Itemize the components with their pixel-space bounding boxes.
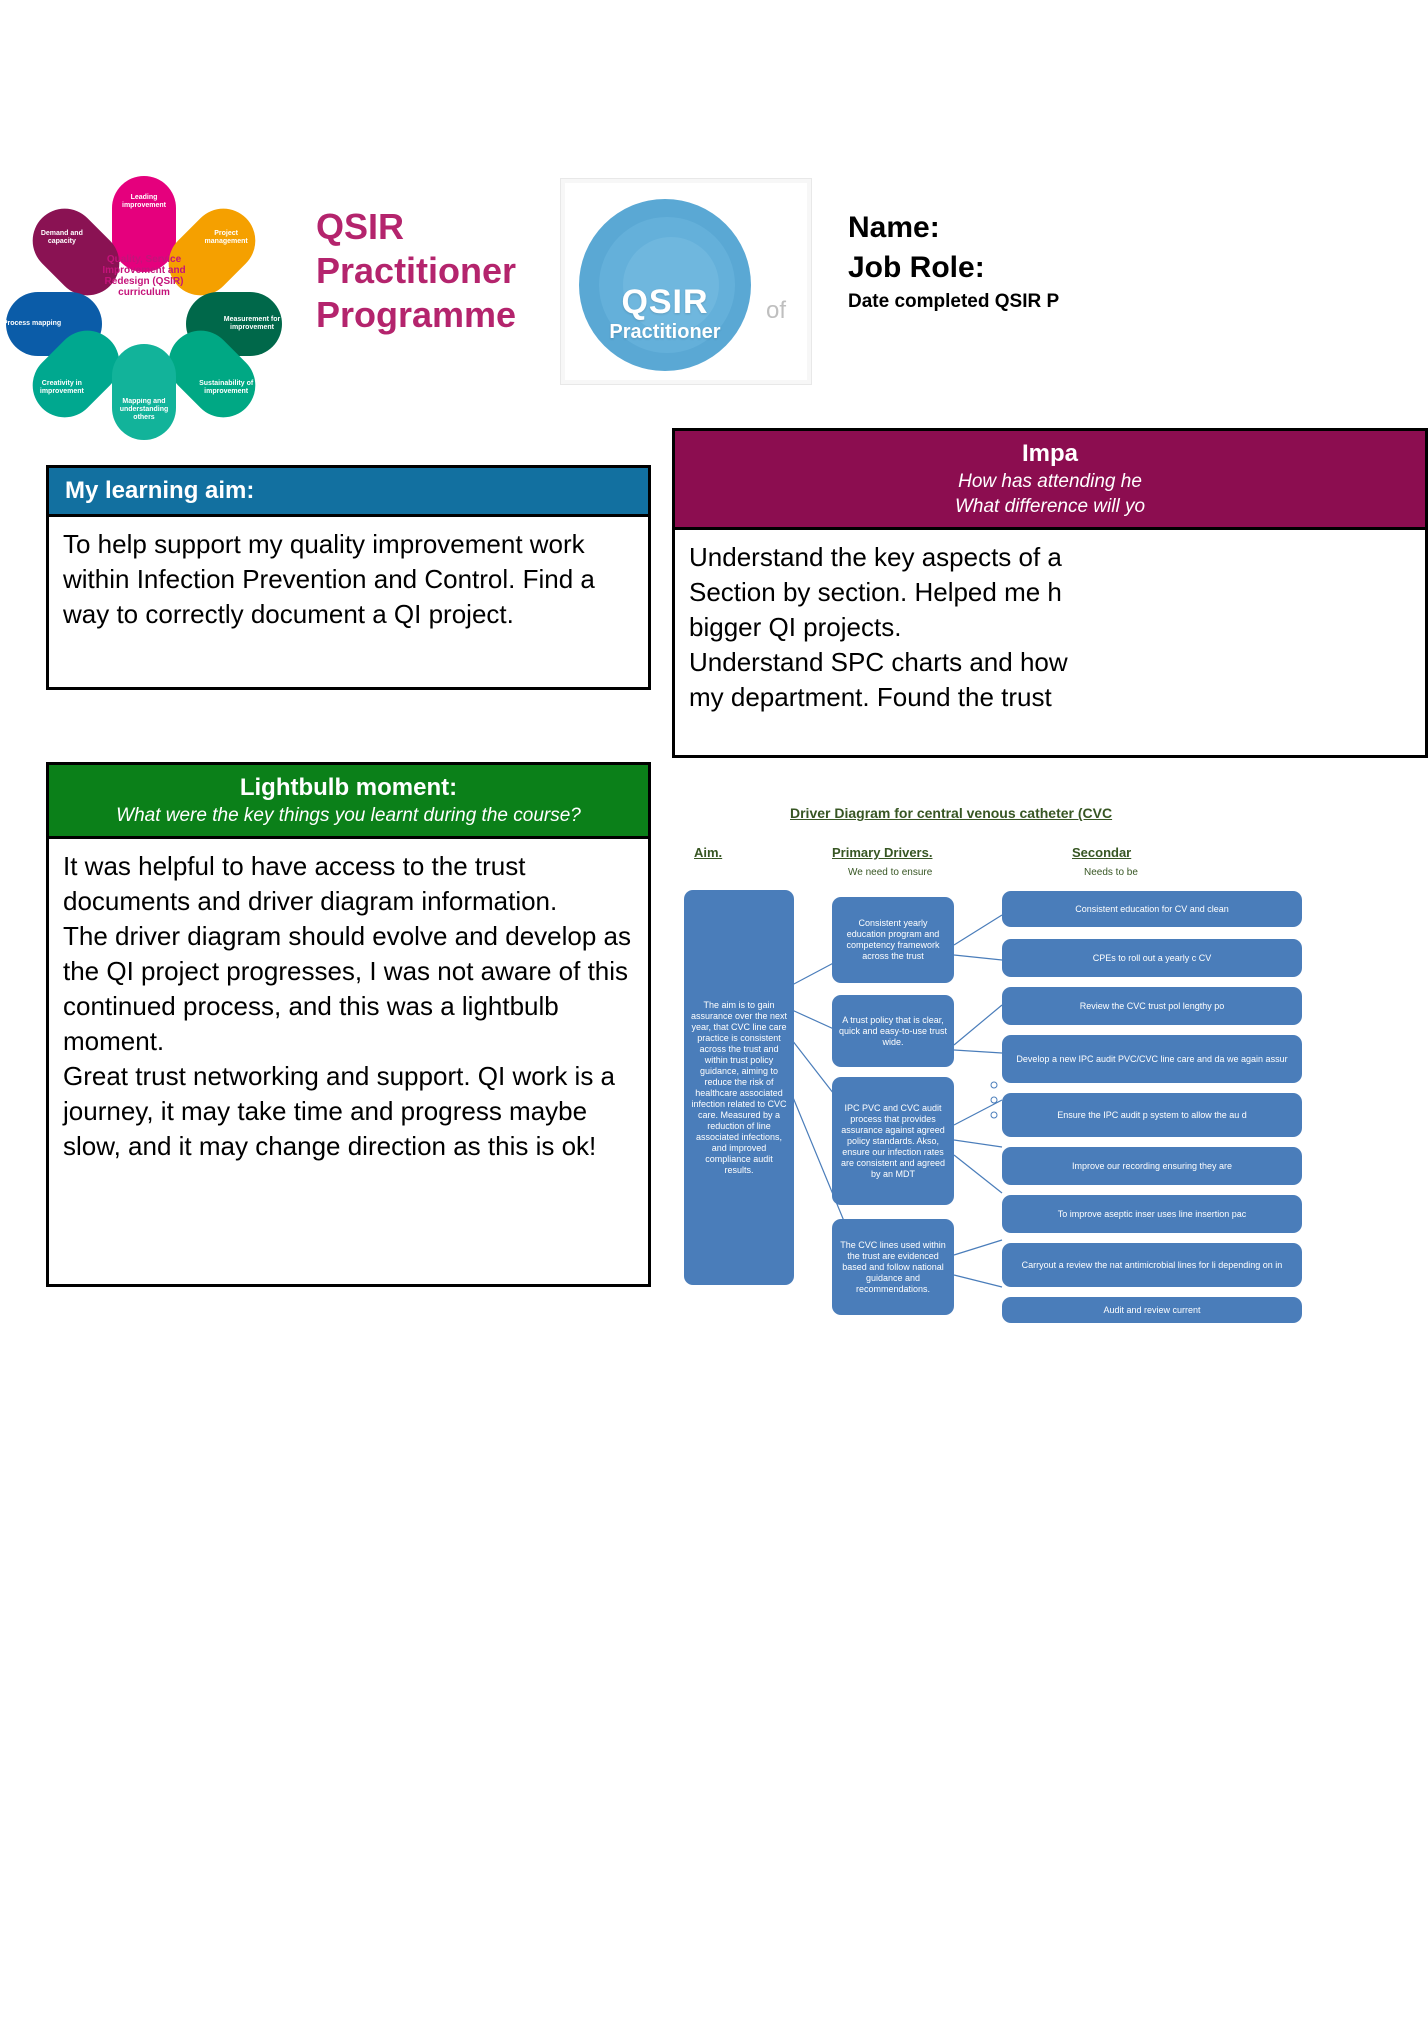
impact-body-line: Understand the key aspects of a: [689, 540, 1411, 575]
flower-petal-label: Measurement for improvement: [220, 316, 284, 332]
flower-petal-label: Creativity in improvement: [30, 380, 94, 396]
driver-diagram-col-primary: Primary Drivers.: [832, 845, 932, 860]
driver-diagram-sub-secondary: Needs to be: [1084, 867, 1138, 878]
driver-diagram: Driver Diagram for central venous cathet…: [672, 795, 1428, 1315]
driver-diagram-secondary-node: Audit and review current: [1002, 1297, 1302, 1323]
driver-diagram-secondary-node: Carryout a review the nat antimicrobial …: [1002, 1243, 1302, 1287]
flower-petal-label: Mapping and understanding others: [112, 398, 176, 422]
driver-diagram-title: Driver Diagram for central venous cathet…: [790, 805, 1428, 821]
learning-aim-box: My learning aim: To help support my qual…: [46, 465, 651, 690]
learning-aim-heading: My learning aim:: [65, 476, 638, 506]
impact-header: Impa How has attending he What differenc…: [675, 431, 1425, 530]
impact-heading: Impa: [685, 439, 1415, 469]
impact-subheading-2: What difference will yo: [685, 494, 1415, 519]
driver-diagram-primary-node: IPC PVC and CVC audit process that provi…: [832, 1077, 954, 1205]
qsir-practitioner-badge-frame: QSIR Practitioner of: [560, 178, 812, 385]
participant-details: Name: Job Role: Date completed QSIR P: [848, 208, 1428, 316]
flower-petal-label: Demand and capacity: [30, 230, 94, 246]
impact-box: Impa How has attending he What differenc…: [672, 428, 1428, 758]
impact-body-line: my department. Found the trust: [689, 680, 1411, 715]
lightbulb-heading: Lightbulb moment:: [59, 773, 638, 803]
qsir-practitioner-badge-icon: QSIR Practitioner: [579, 199, 751, 371]
impact-body-line: Understand SPC charts and how: [689, 645, 1411, 680]
flower-petal-label: Leading improvement: [112, 194, 176, 210]
flower-petal-label: Project management: [194, 230, 258, 246]
job-role-colon: :: [975, 251, 985, 284]
driver-diagram-secondary-node: Develop a new IPC audit PVC/CVC line car…: [1002, 1035, 1302, 1083]
driver-diagram-primary-node: The CVC lines used within the trust are …: [832, 1219, 954, 1315]
lightbulb-moment-box: Lightbulb moment: What were the key thin…: [46, 762, 651, 1287]
programme-title-line-2: Practitioner: [316, 249, 546, 293]
impact-body-line: bigger QI projects.: [689, 610, 1411, 645]
badge-word-practitioner: Practitioner: [579, 321, 751, 344]
job-role-label: Job Role:: [848, 248, 1428, 288]
lightbulb-body: It was helpful to have access to the tru…: [49, 839, 648, 1174]
impact-body: Understand the key aspects of a Section …: [675, 530, 1425, 725]
learning-aim-header: My learning aim:: [49, 468, 648, 517]
impact-subheading-1: How has attending he: [685, 469, 1415, 494]
programme-title-line-3: Programme: [316, 293, 546, 337]
job-role-text: Job Role: [848, 251, 975, 284]
driver-diagram-secondary-node: Ensure the IPC audit p system to allow t…: [1002, 1093, 1302, 1137]
driver-diagram-secondary-node: Improve our recording ensuring they are: [1002, 1147, 1302, 1185]
learning-aim-body: To help support my quality improvement w…: [49, 517, 648, 642]
lightbulb-header: Lightbulb moment: What were the key thin…: [49, 765, 648, 839]
qsir-flower-logo: Leading improvement Demand and capacity …: [36, 176, 251, 386]
impact-body-line: Section by section. Helped me h: [689, 575, 1411, 610]
driver-diagram-col-aim: Aim.: [694, 845, 722, 860]
driver-diagram-primary-node: Consistent yearly education program and …: [832, 897, 954, 983]
date-completed-label: Date completed QSIR P: [848, 288, 1428, 316]
driver-diagram-aim-node: The aim is to gain assurance over the ne…: [684, 890, 794, 1285]
driver-diagram-secondary-node: Review the CVC trust pol lengthy po: [1002, 987, 1302, 1025]
programme-title-line-1: QSIR: [316, 205, 546, 249]
name-label: Name:: [848, 208, 1428, 248]
programme-title: QSIR Practitioner Programme: [316, 205, 546, 337]
badge-word-qsir: QSIR: [579, 283, 751, 322]
flower-petal-label: Process mapping: [0, 320, 64, 328]
driver-diagram-secondary-node: To improve aseptic inser uses line inser…: [1002, 1195, 1302, 1233]
lightbulb-subheading: What were the key things you learnt duri…: [59, 803, 638, 828]
page-header: Leading improvement Demand and capacity …: [0, 0, 1428, 400]
flower-petal-label: Sustainability of improvement: [194, 380, 258, 396]
flower-center-label: Quality, Service Improvement and Redesig…: [92, 254, 196, 328]
flower-petal-mapping-and-understanding-others: Mapping and understanding others: [112, 344, 176, 440]
driver-diagram-col-secondary: Secondar: [1072, 845, 1131, 860]
driver-diagram-secondary-node: CPEs to roll out a yearly c CV: [1002, 939, 1302, 977]
driver-diagram-primary-node: A trust policy that is clear, quick and …: [832, 995, 954, 1067]
badge-of-label: of: [766, 297, 786, 325]
driver-diagram-secondary-node: Consistent education for CV and clean: [1002, 891, 1302, 927]
driver-diagram-sub-primary: We need to ensure: [848, 867, 932, 878]
